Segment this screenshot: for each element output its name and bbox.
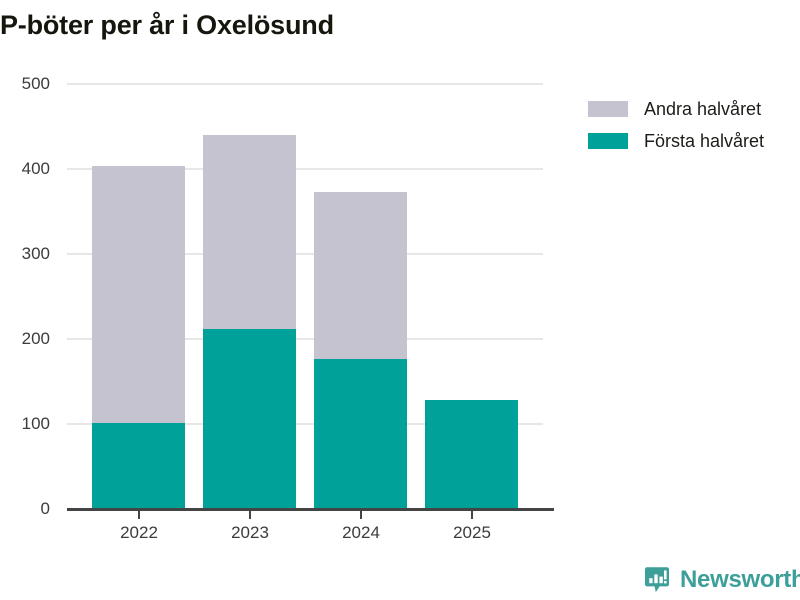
x-tick-label-2023: 2023: [203, 523, 297, 543]
bar-segment-forsta-2024[interactable]: [314, 359, 407, 509]
legend-label: Andra halvåret: [644, 99, 761, 120]
y-axis-labels: 500 400 300 200 100 0: [0, 0, 56, 600]
y-tick-label: 400: [0, 159, 50, 179]
x-axis-tick: [471, 511, 473, 519]
legend-item-forsta-halvaret[interactable]: Första halvåret: [588, 128, 764, 154]
x-tick-label-2022: 2022: [92, 523, 186, 543]
chart-legend: Andra halvåret Första halvåret: [588, 96, 764, 160]
bar-segment-forsta-2025[interactable]: [425, 400, 518, 509]
newsworthy-logo[interactable]: Newsworthy: [643, 566, 800, 594]
x-axis-line: [67, 508, 554, 511]
legend-swatch-icon: [588, 101, 628, 117]
plot-area: [67, 83, 543, 509]
bar-chart-speech-bubble-icon: [643, 566, 671, 594]
x-tick-label-2024: 2024: [314, 523, 408, 543]
legend-label: Första halvåret: [644, 131, 764, 152]
bar-segment-forsta-2023[interactable]: [203, 329, 296, 509]
legend-swatch-icon: [588, 133, 628, 149]
y-tick-label: 100: [0, 414, 50, 434]
legend-item-andra-halvaret[interactable]: Andra halvåret: [588, 96, 764, 122]
brand-name: Newsworthy: [680, 566, 800, 594]
x-axis-tick: [360, 511, 362, 519]
bar-segment-forsta-2022[interactable]: [92, 423, 185, 509]
x-axis-tick: [138, 511, 140, 519]
y-tick-label: 200: [0, 329, 50, 349]
chart-container: P-böter per år i Oxelösund 500 400 300 2…: [0, 0, 800, 600]
x-axis-tick: [249, 511, 251, 519]
x-tick-label-2025: 2025: [425, 523, 519, 543]
gridline-500: [67, 83, 543, 85]
y-tick-label: 500: [0, 74, 50, 94]
y-tick-label: 300: [0, 244, 50, 264]
y-tick-label: 0: [0, 499, 50, 519]
